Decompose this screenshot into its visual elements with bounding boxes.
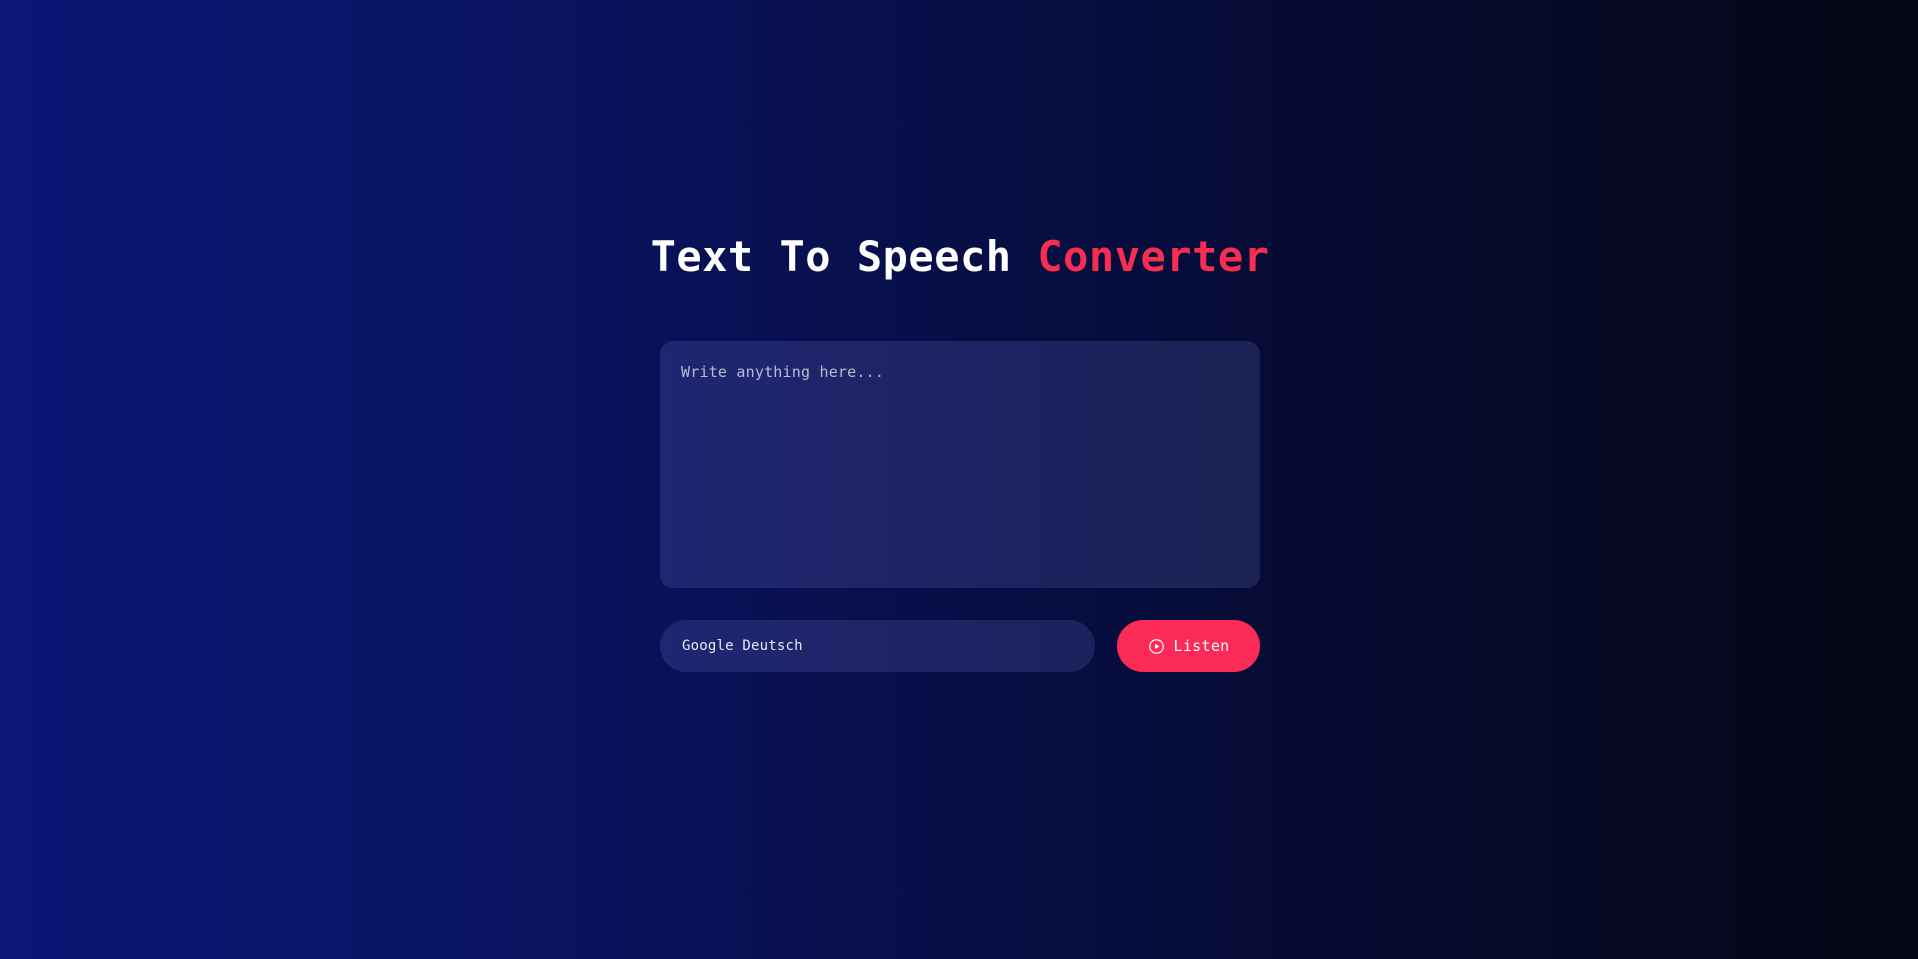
listen-button[interactable]: Listen bbox=[1117, 620, 1260, 672]
page-title-plain: Text To Speech bbox=[651, 232, 1038, 281]
page-title: Text To Speech Converter bbox=[615, 232, 1305, 282]
voice-select[interactable]: Google DeutschGoogle US EnglishGoogle UK… bbox=[660, 620, 1095, 672]
play-circle-icon bbox=[1148, 638, 1165, 655]
text-to-speech-app: Text To Speech Converter Google DeutschG… bbox=[660, 0, 1260, 959]
controls-row: Google DeutschGoogle US EnglishGoogle UK… bbox=[660, 620, 1260, 672]
text-input[interactable] bbox=[660, 341, 1260, 588]
page-title-accent: Converter bbox=[1037, 232, 1269, 281]
text-input-panel bbox=[660, 341, 1260, 588]
listen-button-label: Listen bbox=[1174, 639, 1230, 654]
